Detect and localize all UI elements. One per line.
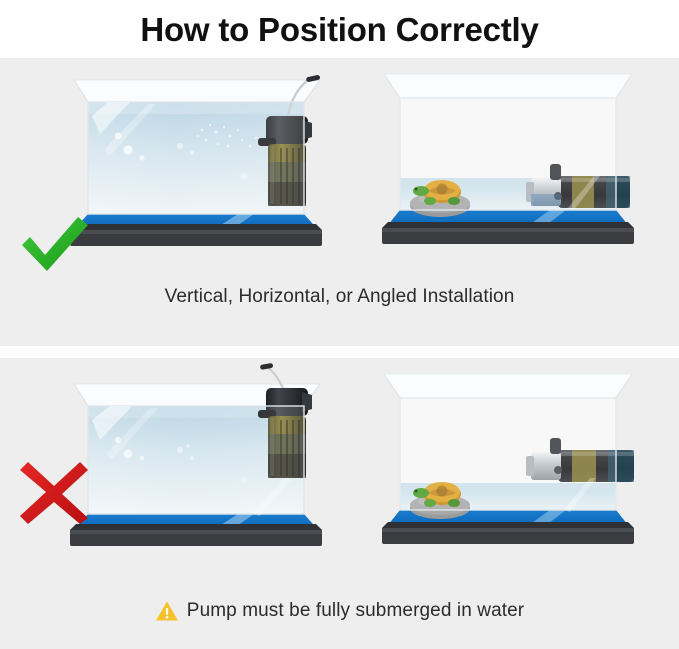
caption-correct: Vertical, Horizontal, or Angled Installa… xyxy=(0,280,679,314)
tank-glass-back xyxy=(74,80,320,102)
status-check-icon xyxy=(18,213,90,275)
page-title: How to Position Correctly xyxy=(140,13,538,46)
caption-correct-text: Vertical, Horizontal, or Angled Installa… xyxy=(165,286,515,308)
tank-glass-front xyxy=(88,102,304,214)
tank-glass-front xyxy=(400,98,616,210)
tank-base xyxy=(382,522,634,544)
tank-base xyxy=(382,222,634,244)
title-bar: How to Position Correctly xyxy=(0,0,679,58)
tank-base xyxy=(70,224,322,246)
tank-glass-back xyxy=(384,74,632,98)
tank-glass-front xyxy=(400,398,616,512)
status-cross-icon xyxy=(18,458,90,526)
tank-base xyxy=(70,524,322,546)
tank-row-incorrect xyxy=(0,358,679,563)
infographic-page: How to Position Correctly xyxy=(0,0,679,649)
aquarium-vertical-pump-exposed xyxy=(52,358,342,563)
tank-glass-front xyxy=(88,406,304,516)
tank-glass-back xyxy=(384,374,632,398)
caption-incorrect-text: Pump must be fully submerged in water xyxy=(187,600,524,622)
section-correct: Vertical, Horizontal, or Angled Installa… xyxy=(0,58,679,346)
warning-triangle-icon xyxy=(155,600,179,622)
caption-incorrect: Pump must be fully submerged in water xyxy=(0,594,679,628)
tank-row-correct xyxy=(0,58,679,263)
aquarium-vertical-pump xyxy=(52,58,342,263)
aquarium-horizontal-pump-exposed xyxy=(368,358,648,563)
aquarium-horizontal-pump xyxy=(368,58,648,263)
section-incorrect: Pump must be fully submerged in water xyxy=(0,358,679,649)
